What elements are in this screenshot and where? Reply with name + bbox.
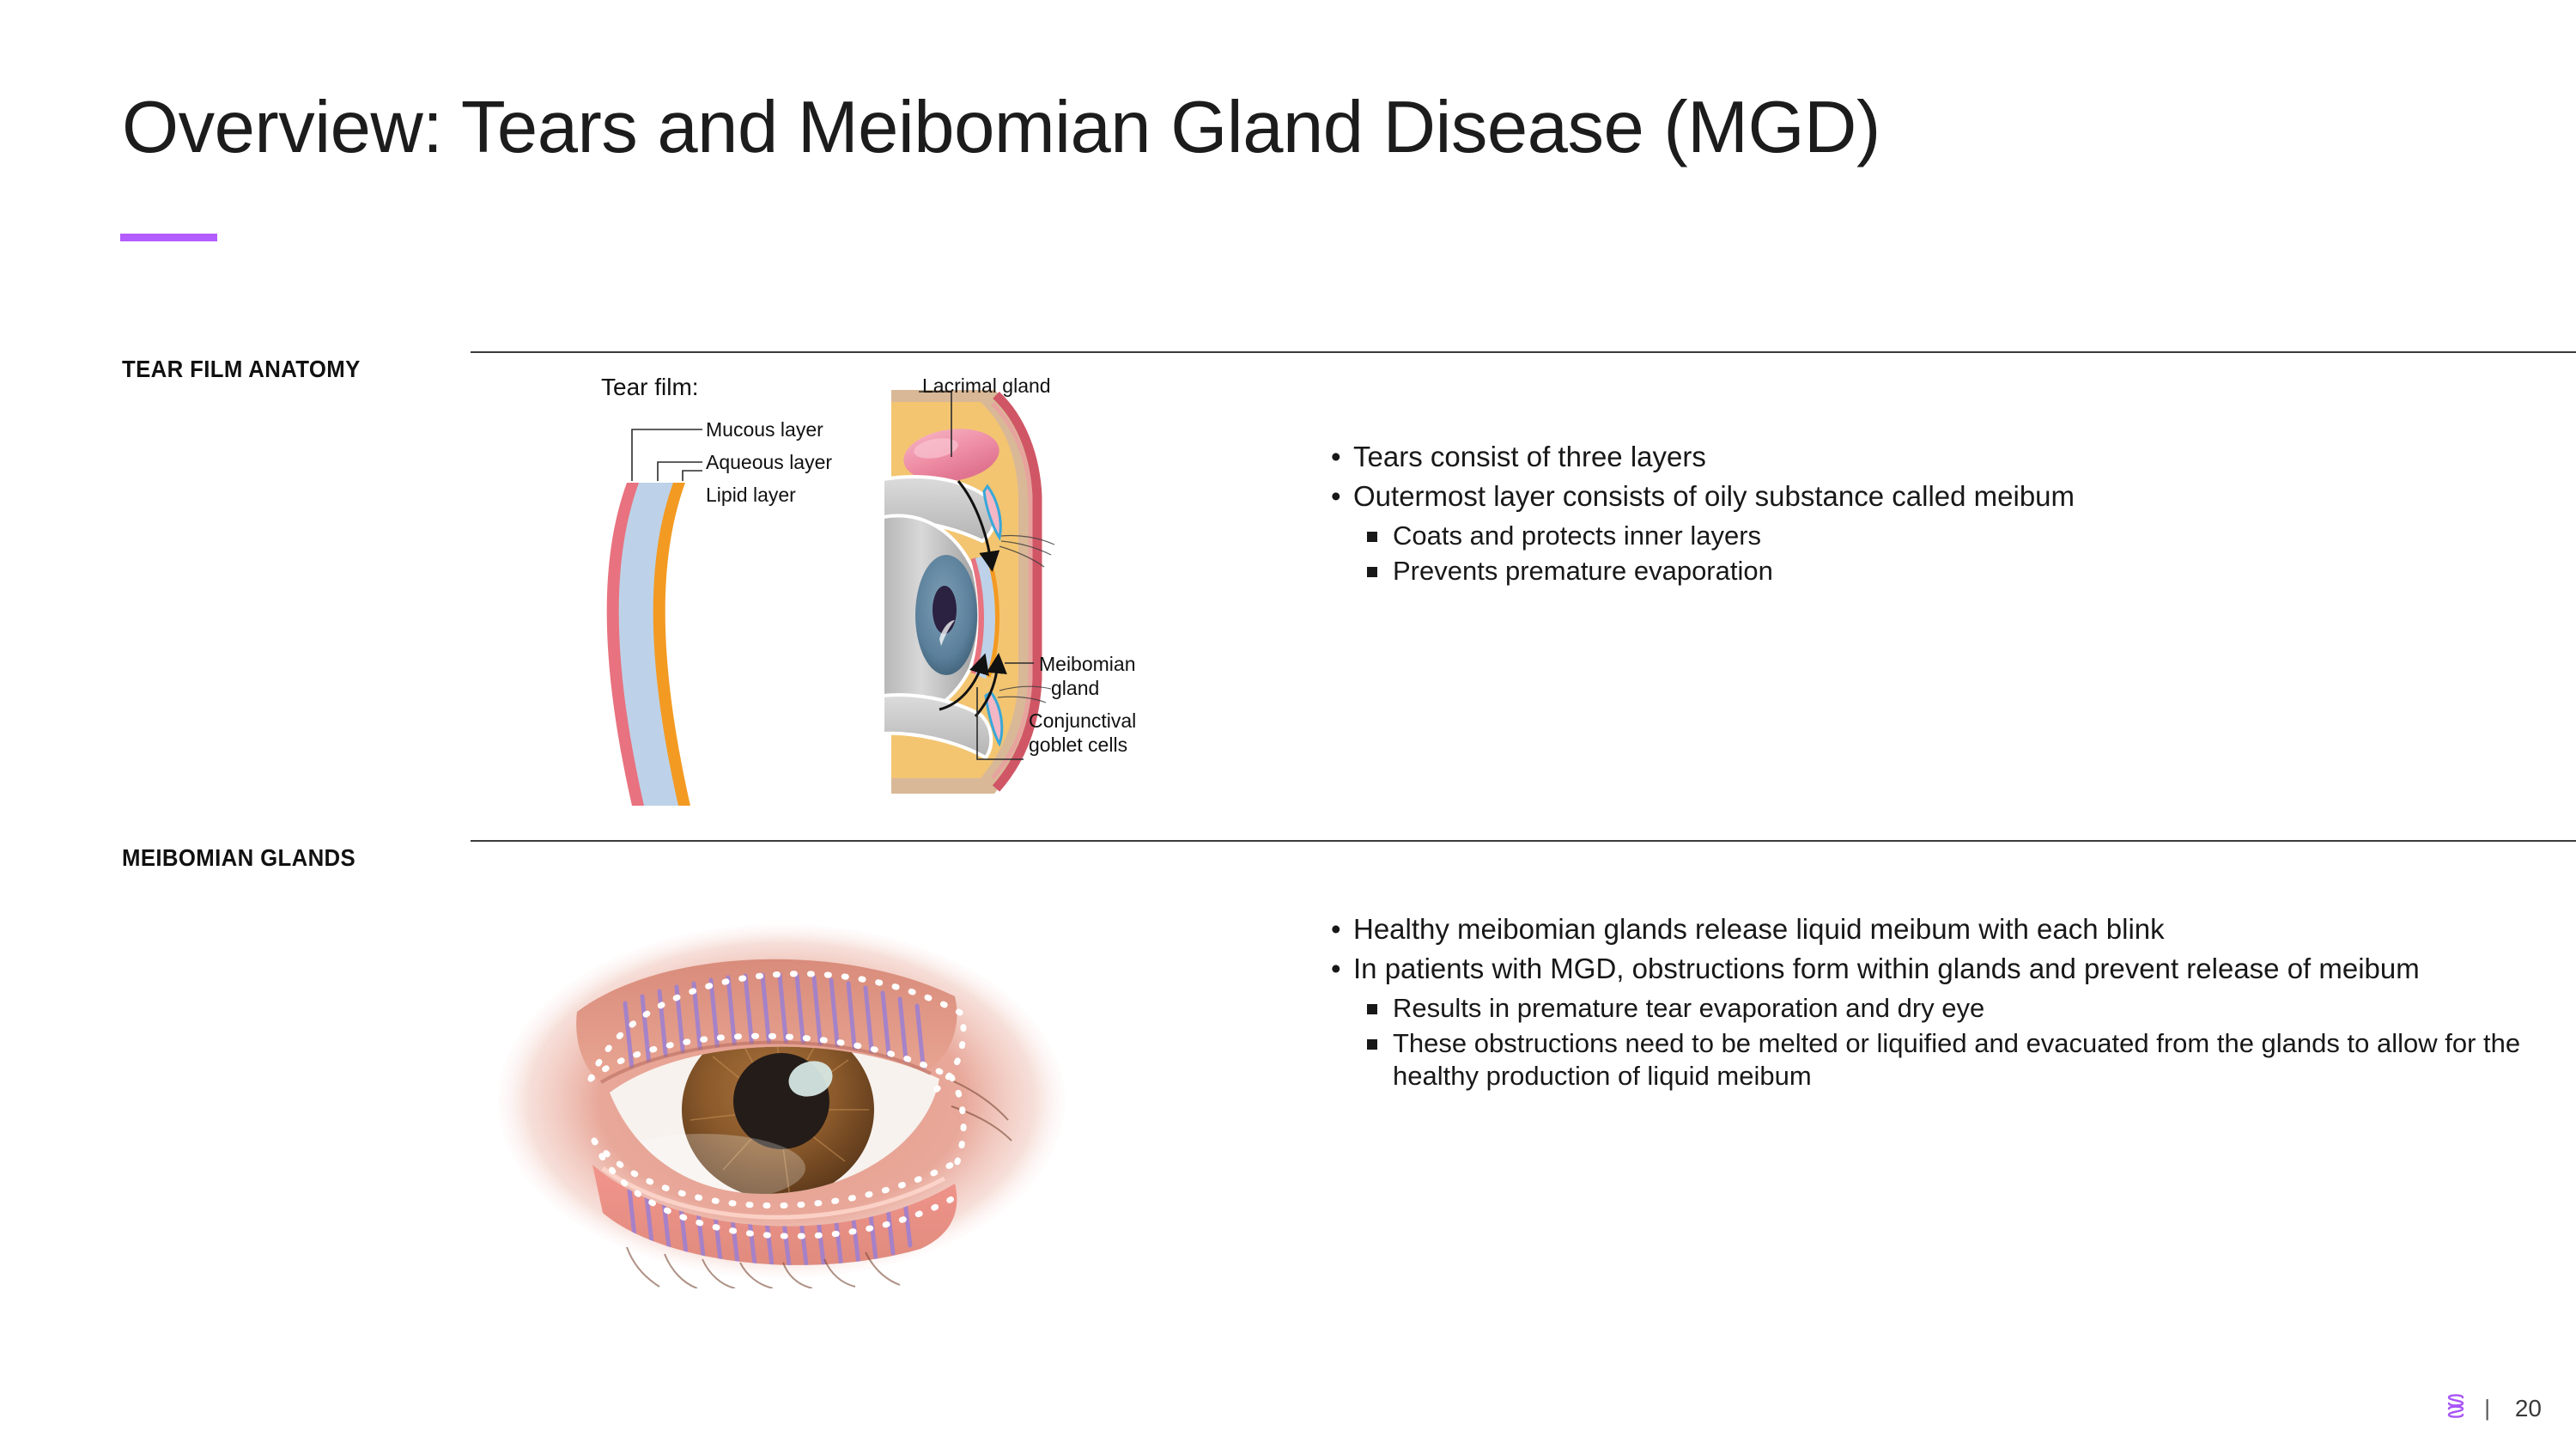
sub-bullet-text: Prevents premature evaporation bbox=[1393, 556, 1773, 586]
bullet-square-icon bbox=[1367, 532, 1377, 542]
sub-bullet-item: These obstructions need to be melted or … bbox=[1329, 1027, 2531, 1093]
bullet-item: • In patients with MGD, obstructions for… bbox=[1329, 952, 2531, 986]
bullet-dot-icon: • bbox=[1331, 912, 1341, 947]
label-meibomian-gland-line1: Meibomian bbox=[1039, 653, 1136, 677]
bullet-square-icon bbox=[1367, 1004, 1377, 1014]
logo-svg bbox=[2443, 1391, 2469, 1421]
bullet-dot-icon: • bbox=[1331, 952, 1341, 986]
section-divider-tear-film bbox=[471, 351, 2576, 353]
label-tear-film-heading: Tear film: bbox=[601, 373, 699, 402]
sub-bullet-item: Results in premature tear evaporation an… bbox=[1329, 992, 2531, 1025]
bullet-item: • Outermost layer consists of oily subst… bbox=[1329, 479, 2463, 514]
bullet-text: In patients with MGD, obstructions form … bbox=[1353, 953, 2420, 984]
bullet-square-icon bbox=[1367, 1039, 1377, 1050]
page-title: Overview: Tears and Meibomian Gland Dise… bbox=[122, 89, 1880, 166]
eye-with-meibomian-glands-illustration bbox=[481, 910, 1099, 1288]
label-aqueous-layer: Aqueous layer bbox=[706, 451, 832, 475]
label-lacrimal-gland: Lacrimal gland bbox=[922, 374, 1051, 399]
bullet-square-icon bbox=[1367, 567, 1377, 577]
sub-bullet-item: Prevents premature evaporation bbox=[1329, 555, 2463, 588]
label-lipid-layer: Lipid layer bbox=[706, 484, 796, 508]
bullet-list-meibomian-glands: • Healthy meibomian glands release liqui… bbox=[1329, 912, 2531, 1096]
section-divider-meibomian-glands bbox=[471, 840, 2576, 842]
slide-footer: | 20 bbox=[2443, 1391, 2542, 1425]
bullet-text: Healthy meibomian glands release liquid … bbox=[1353, 913, 2165, 945]
spiral-s-logo-icon bbox=[2443, 1391, 2469, 1425]
bullet-list-tear-film-anatomy: • Tears consist of three layers • Outerm… bbox=[1329, 440, 2463, 591]
sub-bullet-text: Coats and protects inner layers bbox=[1393, 521, 1761, 551]
label-meibomian-gland-line2: gland bbox=[1051, 677, 1099, 701]
section-label-meibomian-glands: MEIBOMIAN GLANDS bbox=[122, 844, 355, 872]
tear-film-diagram-svg bbox=[601, 378, 1219, 825]
bullet-text: Tears consist of three layers bbox=[1353, 441, 1706, 472]
sub-bullet-item: Coats and protects inner layers bbox=[1329, 520, 2463, 552]
title-accent-bar bbox=[120, 234, 217, 241]
tear-film-leader-lines bbox=[632, 429, 702, 481]
label-conjunctival-goblet-cells-line2: goblet cells bbox=[1029, 734, 1127, 758]
tear-film-layers-graphic bbox=[607, 483, 690, 806]
bullet-text: Outermost layer consists of oily substan… bbox=[1353, 480, 2075, 512]
section-label-tear-film-anatomy: TEAR FILM ANATOMY bbox=[122, 356, 361, 383]
bullet-item: • Tears consist of three layers bbox=[1329, 440, 2463, 474]
eye-photo-illustration-svg bbox=[481, 910, 1099, 1288]
bullet-dot-icon: • bbox=[1331, 479, 1341, 514]
page-number: 20 bbox=[2506, 1395, 2542, 1422]
tear-film-and-eye-cross-section-diagram: Tear film: Mucous layer Aqueous layer Li… bbox=[601, 378, 1219, 825]
label-mucous-layer: Mucous layer bbox=[706, 418, 823, 442]
label-conjunctival-goblet-cells-line1: Conjunctival bbox=[1029, 709, 1136, 734]
sub-bullet-text: Results in premature tear evaporation an… bbox=[1393, 993, 1984, 1023]
footer-separator: | bbox=[2484, 1395, 2490, 1422]
bullet-dot-icon: • bbox=[1331, 440, 1341, 474]
sub-bullet-text: These obstructions need to be melted or … bbox=[1393, 1028, 2520, 1091]
bullet-item: • Healthy meibomian glands release liqui… bbox=[1329, 912, 2531, 947]
